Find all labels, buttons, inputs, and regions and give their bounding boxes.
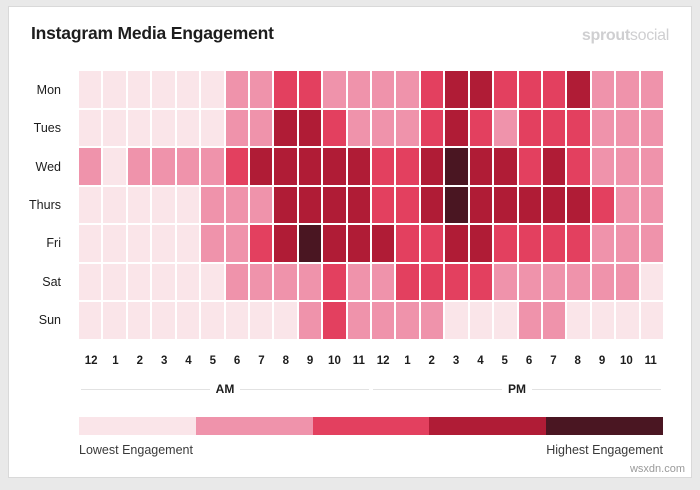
heatmap-cell[interactable] bbox=[323, 110, 345, 147]
hour-label: 1 bbox=[103, 355, 127, 375]
heatmap-cell[interactable] bbox=[543, 148, 565, 185]
heatmap-cell[interactable] bbox=[421, 302, 443, 339]
hour-label: 9 bbox=[298, 355, 322, 375]
heatmap-cell[interactable] bbox=[299, 225, 321, 262]
heatmap-cell[interactable] bbox=[201, 264, 223, 301]
hour-label: 2 bbox=[420, 355, 444, 375]
heatmap-cell[interactable] bbox=[421, 71, 443, 108]
heatmap-cell[interactable] bbox=[348, 148, 370, 185]
heatmap-cell[interactable] bbox=[299, 302, 321, 339]
heatmap-cell[interactable] bbox=[494, 264, 516, 301]
heatmap-cell[interactable] bbox=[519, 302, 541, 339]
heatmap-cell[interactable] bbox=[79, 264, 101, 301]
heatmap-cell[interactable] bbox=[372, 302, 394, 339]
hour-label: 8 bbox=[566, 355, 590, 375]
heatmap-cell[interactable] bbox=[519, 110, 541, 147]
heatmap-cell[interactable] bbox=[348, 302, 370, 339]
pm-bracket-line-left bbox=[373, 389, 502, 390]
heatmap-cell[interactable] bbox=[592, 148, 614, 185]
heatmap-cell[interactable] bbox=[445, 110, 467, 147]
pm-bracket-line-right bbox=[532, 389, 661, 390]
heatmap-row bbox=[79, 71, 663, 108]
heatmap-cell[interactable] bbox=[494, 110, 516, 147]
heatmap-cell[interactable] bbox=[103, 187, 125, 224]
heatmap-cell[interactable] bbox=[152, 71, 174, 108]
heatmap-cell[interactable] bbox=[592, 187, 614, 224]
hour-label: 10 bbox=[322, 355, 346, 375]
hour-label: 11 bbox=[639, 355, 663, 375]
heatmap-cell[interactable] bbox=[103, 264, 125, 301]
heatmap-cell[interactable] bbox=[641, 302, 663, 339]
heatmap-cell[interactable] bbox=[445, 148, 467, 185]
heatmap-cell[interactable] bbox=[372, 148, 394, 185]
heatmap-cell[interactable] bbox=[372, 71, 394, 108]
heatmap-cell[interactable] bbox=[543, 225, 565, 262]
heatmap-cell[interactable] bbox=[299, 148, 321, 185]
heatmap-cell[interactable] bbox=[299, 187, 321, 224]
heatmap-cell[interactable] bbox=[445, 225, 467, 262]
ampm-brackets: AM PM bbox=[79, 377, 663, 401]
heatmap-row bbox=[79, 148, 663, 185]
heatmap-cell[interactable] bbox=[299, 264, 321, 301]
heatmap-cell[interactable] bbox=[470, 110, 492, 147]
heatmap-cell[interactable] bbox=[372, 264, 394, 301]
heatmap-cell[interactable] bbox=[470, 148, 492, 185]
heatmap-cell[interactable] bbox=[274, 302, 296, 339]
heatmap-cell[interactable] bbox=[543, 71, 565, 108]
pm-bracket: PM bbox=[371, 377, 663, 401]
heatmap-cell[interactable] bbox=[274, 225, 296, 262]
heatmap-cell[interactable] bbox=[494, 302, 516, 339]
heatmap-cell[interactable] bbox=[421, 187, 443, 224]
heatmap-cell[interactable] bbox=[250, 148, 272, 185]
hour-axis: 121234567891011121234567891011 bbox=[79, 355, 663, 375]
heatmap-cell[interactable] bbox=[641, 264, 663, 301]
chart-header: Instagram Media Engagement sproutsocial bbox=[9, 7, 691, 65]
heatmap-cell[interactable] bbox=[641, 148, 663, 185]
am-bracket-line-right bbox=[240, 389, 369, 390]
heatmap-cell[interactable] bbox=[616, 225, 638, 262]
heatmap-cell[interactable] bbox=[128, 225, 150, 262]
heatmap-cell[interactable] bbox=[274, 71, 296, 108]
heatmap-cell[interactable] bbox=[79, 148, 101, 185]
heatmap-cell[interactable] bbox=[299, 71, 321, 108]
heatmap-cell[interactable] bbox=[152, 264, 174, 301]
heatmap-cell[interactable] bbox=[274, 264, 296, 301]
heatmap-cell[interactable] bbox=[567, 110, 589, 147]
heatmap-cell[interactable] bbox=[128, 148, 150, 185]
hour-label: 7 bbox=[249, 355, 273, 375]
heatmap-cell[interactable] bbox=[226, 302, 248, 339]
heatmap-cell[interactable] bbox=[519, 225, 541, 262]
heatmap-cell[interactable] bbox=[201, 302, 223, 339]
heatmap-cell[interactable] bbox=[201, 71, 223, 108]
heatmap-cell[interactable] bbox=[201, 187, 223, 224]
heatmap-row bbox=[79, 302, 663, 339]
heatmap-cell[interactable] bbox=[201, 110, 223, 147]
heatmap-cell[interactable] bbox=[103, 148, 125, 185]
heatmap-cell[interactable] bbox=[396, 264, 418, 301]
heatmap-cell[interactable] bbox=[372, 225, 394, 262]
hour-label: 9 bbox=[590, 355, 614, 375]
heatmap-cell[interactable] bbox=[323, 187, 345, 224]
heatmap-plot: MonTuesWedThursFriSatSun bbox=[9, 65, 692, 355]
heatmap-cell[interactable] bbox=[103, 110, 125, 147]
heatmap-cell[interactable] bbox=[128, 187, 150, 224]
heatmap-cell[interactable] bbox=[396, 302, 418, 339]
heatmap-cell[interactable] bbox=[592, 71, 614, 108]
heatmap-cell[interactable] bbox=[177, 264, 199, 301]
hour-label: 11 bbox=[347, 355, 371, 375]
heatmap-cell[interactable] bbox=[421, 148, 443, 185]
hour-label: 7 bbox=[541, 355, 565, 375]
heatmap-cell[interactable] bbox=[299, 110, 321, 147]
heatmap-cell[interactable] bbox=[226, 148, 248, 185]
heatmap-cell[interactable] bbox=[616, 302, 638, 339]
heatmap-cell[interactable] bbox=[470, 71, 492, 108]
heatmap-cell[interactable] bbox=[616, 71, 638, 108]
heatmap-cell[interactable] bbox=[79, 302, 101, 339]
hour-label: 12 bbox=[371, 355, 395, 375]
heatmap-cell[interactable] bbox=[396, 71, 418, 108]
day-axis: MonTuesWedThursFriSatSun bbox=[9, 71, 71, 339]
heatmap-cell[interactable] bbox=[494, 187, 516, 224]
day-label: Mon bbox=[9, 71, 71, 109]
heatmap-cell[interactable] bbox=[348, 110, 370, 147]
heatmap-cell[interactable] bbox=[348, 71, 370, 108]
heatmap-cell[interactable] bbox=[567, 225, 589, 262]
heatmap-cell[interactable] bbox=[152, 187, 174, 224]
hour-label: 5 bbox=[201, 355, 225, 375]
heatmap-cell[interactable] bbox=[470, 302, 492, 339]
legend-captions: Lowest Engagement Highest Engagement bbox=[79, 443, 663, 457]
heatmap-cell[interactable] bbox=[177, 225, 199, 262]
heatmap-cell[interactable] bbox=[470, 187, 492, 224]
am-label: AM bbox=[216, 382, 235, 396]
heatmap-cell[interactable] bbox=[323, 302, 345, 339]
heatmap-row bbox=[79, 225, 663, 262]
heatmap-cell[interactable] bbox=[177, 148, 199, 185]
heatmap-cell[interactable] bbox=[421, 225, 443, 262]
heatmap-cell[interactable] bbox=[323, 264, 345, 301]
heatmap-cell[interactable] bbox=[519, 187, 541, 224]
heatmap-cell[interactable] bbox=[421, 110, 443, 147]
heatmap-cell[interactable] bbox=[372, 110, 394, 147]
heatmap-cell[interactable] bbox=[641, 110, 663, 147]
watermark: wsxdn.com bbox=[630, 463, 685, 475]
heatmap-cell[interactable] bbox=[250, 71, 272, 108]
heatmap-cell[interactable] bbox=[226, 187, 248, 224]
day-label: Wed bbox=[9, 148, 71, 186]
heatmap-cell[interactable] bbox=[79, 110, 101, 147]
heatmap-cell[interactable] bbox=[274, 110, 296, 147]
heatmap-cell[interactable] bbox=[592, 225, 614, 262]
heatmap-cell[interactable] bbox=[567, 187, 589, 224]
heatmap-cell[interactable] bbox=[274, 148, 296, 185]
heatmap-cell[interactable] bbox=[592, 110, 614, 147]
heatmap-cell[interactable] bbox=[177, 71, 199, 108]
pm-label: PM bbox=[508, 382, 526, 396]
heatmap-cell[interactable] bbox=[177, 302, 199, 339]
heatmap-cell[interactable] bbox=[348, 187, 370, 224]
heatmap-cell[interactable] bbox=[519, 148, 541, 185]
hour-label: 4 bbox=[176, 355, 200, 375]
heatmap-cell[interactable] bbox=[274, 187, 296, 224]
heatmap-cell[interactable] bbox=[567, 71, 589, 108]
heatmap-cell[interactable] bbox=[177, 110, 199, 147]
hour-label: 5 bbox=[493, 355, 517, 375]
heatmap-cell[interactable] bbox=[250, 225, 272, 262]
heatmap-cell[interactable] bbox=[348, 264, 370, 301]
hour-label: 3 bbox=[152, 355, 176, 375]
legend-swatch bbox=[196, 417, 313, 435]
heatmap-cell[interactable] bbox=[226, 110, 248, 147]
heatmap-cell[interactable] bbox=[103, 71, 125, 108]
heatmap-cell[interactable] bbox=[567, 264, 589, 301]
heatmap-cell[interactable] bbox=[250, 187, 272, 224]
heatmap-cell[interactable] bbox=[519, 264, 541, 301]
heatmap-cell[interactable] bbox=[79, 71, 101, 108]
heatmap-cell[interactable] bbox=[323, 148, 345, 185]
page-title: Instagram Media Engagement bbox=[31, 23, 274, 44]
heatmap-cell[interactable] bbox=[152, 148, 174, 185]
heatmap-cell[interactable] bbox=[396, 110, 418, 147]
heatmap-cell[interactable] bbox=[323, 71, 345, 108]
heatmap-cell[interactable] bbox=[543, 187, 565, 224]
heatmap-cell[interactable] bbox=[445, 264, 467, 301]
heatmap-cell[interactable] bbox=[641, 71, 663, 108]
heatmap-cell[interactable] bbox=[396, 225, 418, 262]
am-bracket: AM bbox=[79, 377, 371, 401]
heatmap-cell[interactable] bbox=[396, 148, 418, 185]
legend-lowest-label: Lowest Engagement bbox=[79, 443, 193, 457]
heatmap-cell[interactable] bbox=[543, 302, 565, 339]
heatmap-cell[interactable] bbox=[445, 71, 467, 108]
heatmap-cell[interactable] bbox=[79, 187, 101, 224]
heatmap-cell[interactable] bbox=[128, 110, 150, 147]
heatmap-cell[interactable] bbox=[616, 148, 638, 185]
heatmap-cell[interactable] bbox=[543, 264, 565, 301]
heatmap-cell[interactable] bbox=[445, 187, 467, 224]
hour-label: 6 bbox=[517, 355, 541, 375]
logo-light-text: social bbox=[630, 27, 669, 44]
heatmap-cell[interactable] bbox=[103, 302, 125, 339]
legend-swatch bbox=[429, 417, 546, 435]
legend-gradient-bar bbox=[79, 417, 663, 435]
legend-highest-label: Highest Engagement bbox=[546, 443, 663, 457]
heatmap-cell[interactable] bbox=[567, 148, 589, 185]
heatmap-cell[interactable] bbox=[152, 302, 174, 339]
heatmap-row bbox=[79, 264, 663, 301]
heatmap-cell[interactable] bbox=[177, 187, 199, 224]
heatmap-cell[interactable] bbox=[421, 264, 443, 301]
day-label: Tues bbox=[9, 109, 71, 147]
hour-label: 2 bbox=[128, 355, 152, 375]
heatmap-cell[interactable] bbox=[470, 264, 492, 301]
heatmap-cell[interactable] bbox=[201, 225, 223, 262]
heatmap-cell[interactable] bbox=[103, 225, 125, 262]
heatmap-cell[interactable] bbox=[201, 148, 223, 185]
heatmap-cell[interactable] bbox=[445, 302, 467, 339]
hour-label: 1 bbox=[395, 355, 419, 375]
heatmap-cell[interactable] bbox=[128, 302, 150, 339]
heatmap-cell[interactable] bbox=[250, 264, 272, 301]
heatmap-cell[interactable] bbox=[641, 187, 663, 224]
hour-label: 4 bbox=[468, 355, 492, 375]
heatmap-cell[interactable] bbox=[592, 302, 614, 339]
day-label: Fri bbox=[9, 224, 71, 262]
color-legend: Lowest Engagement Highest Engagement bbox=[79, 411, 663, 471]
heatmap-cell[interactable] bbox=[616, 187, 638, 224]
heatmap-cell[interactable] bbox=[494, 148, 516, 185]
heatmap-cell[interactable] bbox=[567, 302, 589, 339]
heatmap-cell[interactable] bbox=[543, 110, 565, 147]
heatmap-cell[interactable] bbox=[372, 187, 394, 224]
heatmap-cell[interactable] bbox=[226, 264, 248, 301]
heatmap-cell[interactable] bbox=[616, 110, 638, 147]
hour-label: 12 bbox=[79, 355, 103, 375]
heatmap-row bbox=[79, 187, 663, 224]
heatmap-cell[interactable] bbox=[226, 71, 248, 108]
heatmap-cell[interactable] bbox=[641, 225, 663, 262]
heatmap-cell[interactable] bbox=[79, 225, 101, 262]
hour-label: 3 bbox=[444, 355, 468, 375]
legend-swatch bbox=[313, 417, 430, 435]
heatmap-cell[interactable] bbox=[494, 71, 516, 108]
heatmap-cell[interactable] bbox=[519, 71, 541, 108]
heatmap-cell[interactable] bbox=[494, 225, 516, 262]
heatmap-grid bbox=[79, 71, 663, 339]
heatmap-cell[interactable] bbox=[128, 71, 150, 108]
day-label: Sat bbox=[9, 262, 71, 300]
day-label: Sun bbox=[9, 301, 71, 339]
heatmap-cell[interactable] bbox=[470, 225, 492, 262]
hour-label: 10 bbox=[614, 355, 638, 375]
heatmap-cell[interactable] bbox=[616, 264, 638, 301]
heatmap-cell[interactable] bbox=[152, 225, 174, 262]
legend-swatch bbox=[79, 417, 196, 435]
sprout-social-logo: sproutsocial bbox=[582, 27, 669, 45]
heatmap-cell[interactable] bbox=[592, 264, 614, 301]
legend-swatch bbox=[546, 417, 663, 435]
heatmap-cell[interactable] bbox=[348, 225, 370, 262]
heatmap-cell[interactable] bbox=[250, 110, 272, 147]
heatmap-row bbox=[79, 110, 663, 147]
hour-label: 6 bbox=[225, 355, 249, 375]
heatmap-cell[interactable] bbox=[128, 264, 150, 301]
chart-card: Instagram Media Engagement sproutsocial … bbox=[8, 6, 692, 478]
heatmap-cell[interactable] bbox=[396, 187, 418, 224]
am-bracket-line-left bbox=[81, 389, 210, 390]
day-label: Thurs bbox=[9, 186, 71, 224]
heatmap-cell[interactable] bbox=[226, 225, 248, 262]
logo-bold-text: sprout bbox=[582, 27, 630, 44]
heatmap-cell[interactable] bbox=[323, 225, 345, 262]
heatmap-cell[interactable] bbox=[250, 302, 272, 339]
hour-label: 8 bbox=[274, 355, 298, 375]
heatmap-cell[interactable] bbox=[152, 110, 174, 147]
